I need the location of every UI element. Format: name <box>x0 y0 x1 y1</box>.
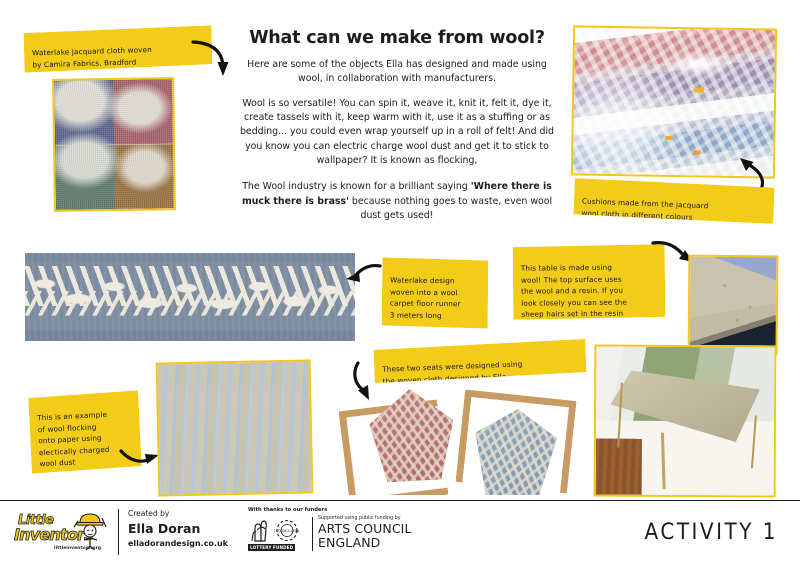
ace-name-line-2: ENGLAND <box>318 536 468 550</box>
note-seats: These two seats were designed using the … <box>373 339 586 383</box>
page-title: What can we make from wool? <box>238 28 556 48</box>
note-table-text: This table is made using wool! The top s… <box>521 263 627 318</box>
ace-name-line-1: ARTS COUNCIL <box>318 522 468 536</box>
crossed-fingers-icon <box>249 517 271 542</box>
arts-council-ring-icon: ARTS COUNCIL ENGLAND <box>274 518 300 543</box>
photo-cushions-image <box>573 27 775 176</box>
note-flocking-text: This is an example of wool flocking onto… <box>37 410 110 468</box>
inventor-character-icon <box>72 509 112 551</box>
cushion-tag-2 <box>665 135 672 139</box>
author-website[interactable]: elladorandesign.co.uk <box>128 539 228 548</box>
note-carpet-runner-text: Waterlake design woven into a wool carpe… <box>390 276 461 320</box>
photo-jacquard-swatch-image <box>54 79 174 210</box>
lottery-funded-logo: ARTS COUNCIL ENGLAND LOTTERY FUNDED <box>248 517 306 551</box>
worksheet-page: Waterlake jacquard cloth woven by Camira… <box>0 0 800 566</box>
cushion-tag-1 <box>694 88 704 93</box>
photo-flocking-sample-image <box>158 361 312 494</box>
funders-label: With thanks to our funders <box>248 507 327 513</box>
page-footer: Little Inventors littleinventors.org <box>0 500 800 566</box>
note-jacquard-cloth: Waterlake jacquard cloth woven by Camira… <box>23 25 212 72</box>
photo-cushions <box>571 25 777 178</box>
note-flocking: This is an example of wool flocking onto… <box>28 390 142 473</box>
created-by-label: Created by <box>128 509 228 518</box>
note-table: This table is made using wool! The top s… <box>513 244 666 320</box>
photo-table-full <box>594 345 777 498</box>
funders-block: With thanks to our funders ARTS COUNCIL … <box>248 507 327 551</box>
main-text-column: What can we make from wool? Here are som… <box>238 28 556 233</box>
note-cushions-text: Cushions made from the jacquard wool clo… <box>581 197 708 222</box>
funders-divider <box>312 517 313 551</box>
saying-lead: The Wool industry is known for a brillia… <box>242 181 471 192</box>
photo-jacquard-swatch <box>52 77 176 212</box>
photo-table-full-image <box>596 347 775 496</box>
photo-carpet-runner <box>25 253 355 341</box>
photo-carpet-runner-image <box>25 253 355 341</box>
photo-seats <box>338 383 588 495</box>
note-carpet-runner: Waterlake design woven into a wool carpe… <box>382 257 489 328</box>
saying-tail: because nothing goes to waste, even wool… <box>349 196 552 221</box>
activity-label: ACTIVITY 1 <box>644 518 778 545</box>
little-inventors-logo[interactable]: Little Inventors littleinventors.org <box>14 509 112 555</box>
ring-text: ARTS COUNCIL ENGLAND <box>274 529 300 533</box>
note-cushions: Cushions made from the jacquard wool clo… <box>573 178 774 224</box>
photo-table-corner <box>688 255 779 356</box>
author-block: Created by Ella Doran elladorandesign.co… <box>128 509 228 548</box>
cushion-tag-3 <box>693 150 700 154</box>
saying-paragraph: The Wool industry is known for a brillia… <box>238 180 556 223</box>
lottery-funded-label: LOTTERY FUNDED <box>248 544 295 551</box>
photo-table-corner-image <box>690 257 777 354</box>
note-seats-text: These two seats were designed using the … <box>382 360 522 386</box>
arts-council-block: Supported using public funding by ARTS C… <box>318 516 468 549</box>
footer-divider <box>118 509 119 555</box>
versatility-paragraph: Wool is so versatile! You can spin it, w… <box>238 97 556 168</box>
author-name: Ella Doran <box>128 521 228 536</box>
note-jacquard-cloth-text: Waterlake jacquard cloth woven by Camira… <box>32 45 152 69</box>
photo-flocking-sample <box>156 359 314 496</box>
intro-paragraph: Here are some of the objects Ella has de… <box>238 58 556 87</box>
